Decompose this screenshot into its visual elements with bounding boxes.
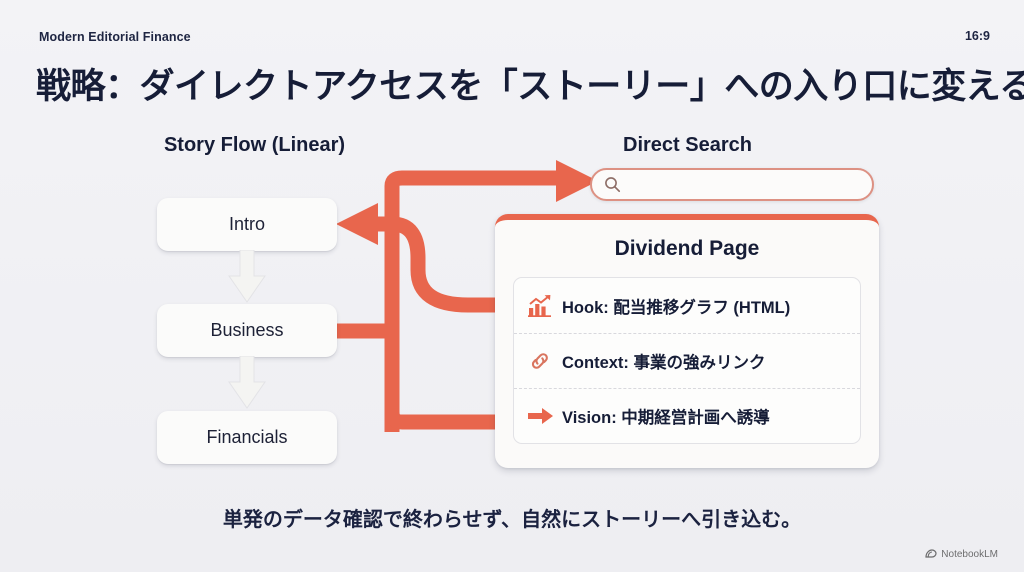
watermark: NotebookLM xyxy=(925,548,998,560)
flow-step-intro[interactable]: Intro xyxy=(157,198,337,251)
card-row-text: Vision: 中期経営計画へ誘導 xyxy=(562,404,770,428)
card-row-lead: Hook: xyxy=(562,299,609,317)
card-row-text: Hook: 配当推移グラフ (HTML) xyxy=(562,294,790,318)
link-icon xyxy=(528,350,562,372)
flow-step-business[interactable]: Business xyxy=(157,304,337,357)
slide-canvas: Modern Editorial Finance 16:9 戦略：ダイレクトアク… xyxy=(0,0,1024,572)
flow-step-financials[interactable]: Financials xyxy=(157,411,337,464)
card-row-hook[interactable]: Hook: 配当推移グラフ (HTML) xyxy=(514,278,860,333)
search-icon xyxy=(604,176,621,193)
card-row-body: 事業の強みリンク xyxy=(629,354,766,372)
watermark-label: NotebookLM xyxy=(941,549,998,560)
down-arrow-icon xyxy=(228,356,266,410)
card-row-lead: Vision: xyxy=(562,409,617,427)
dividend-page-card: Dividend Page Hook: 配当推移グラフ (HTML) xyxy=(495,214,879,468)
flow-step-label: Intro xyxy=(229,214,265,235)
arrowhead-to-intro xyxy=(336,203,378,245)
card-row-lead: Context: xyxy=(562,354,629,372)
direct-search-heading: Direct Search xyxy=(575,134,800,157)
slide-eyebrow: Modern Editorial Finance xyxy=(39,30,191,44)
arrow-right-icon xyxy=(528,406,562,426)
story-flow-heading: Story Flow (Linear) xyxy=(147,134,362,157)
bar-chart-icon xyxy=(528,295,562,317)
card-row-body: 配当推移グラフ (HTML) xyxy=(609,299,790,317)
card-row-vision[interactable]: Vision: 中期経営計画へ誘導 xyxy=(514,388,860,443)
flow-step-label: Business xyxy=(210,320,283,341)
page-title: 戦略：ダイレクトアクセスを「ストーリー」への入り口に変える xyxy=(36,58,1024,109)
card-title: Dividend Page xyxy=(495,237,879,261)
card-row-body: 中期経営計画へ誘導 xyxy=(617,409,770,427)
card-row-list: Hook: 配当推移グラフ (HTML) Context: 事業の強みリンク xyxy=(513,277,861,444)
notebooklm-icon xyxy=(925,548,937,560)
card-row-context[interactable]: Context: 事業の強みリンク xyxy=(514,333,860,388)
card-row-text: Context: 事業の強みリンク xyxy=(562,349,766,373)
aspect-ratio-label: 16:9 xyxy=(965,29,990,43)
search-input[interactable] xyxy=(590,168,874,201)
flow-step-label: Financials xyxy=(206,427,287,448)
slide-caption: 単発のデータ確認で終わらせず、自然にストーリーへ引き込む。 xyxy=(0,503,1024,532)
down-arrow-icon xyxy=(228,250,266,304)
